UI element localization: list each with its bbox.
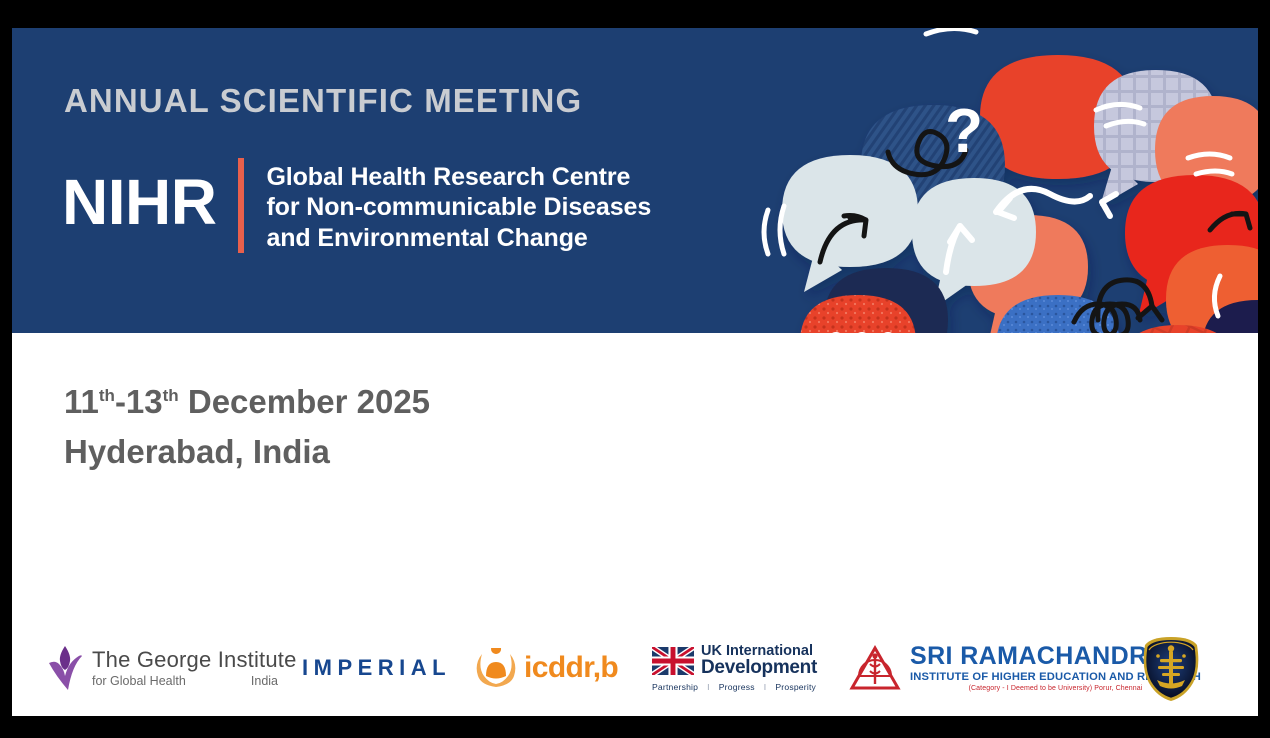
icddrb-person-wreath-icon [474,648,518,688]
ukid-tagline-prosperity: Prosperity [775,682,816,692]
event-date-day-start: 11 [64,383,99,420]
partner-logo-row: The George Institute for Global Health I… [12,623,1258,713]
event-date-ordinal-2: th [163,386,179,405]
ukid-tagline-progress: Progress [719,682,755,692]
ukid-line-1: UK International [701,644,817,659]
poster-card: ANNUAL SCIENTIFIC MEETING NIHR Global He… [12,28,1258,716]
partner-logo-universitas-brawijaya[interactable] [1140,623,1202,713]
event-date-day-end: -13 [115,383,163,420]
question-mark-glyph: ? [945,97,983,166]
partner-logo-icddrb[interactable]: icddr,b [474,623,618,713]
ukid-tagline-sep-2: I [764,682,767,692]
partner-logo-the-george-institute[interactable]: The George Institute for Global Health I… [46,623,297,713]
logo-divider-bar [238,158,244,253]
event-date: 11th-13th December 2025 [64,383,430,421]
header-banner: ANNUAL SCIENTIFIC MEETING NIHR Global He… [12,28,1258,333]
george-institute-subtitles: for Global Health India [92,674,278,688]
body-area: 11th-13th December 2025 Hyderabad, India… [12,333,1258,716]
event-location: Hyderabad, India [64,433,330,471]
centre-name-line-3: and Environmental Change [266,223,651,253]
george-institute-tagline: for Global Health [92,674,186,688]
centre-name-line-2: for Non-communicable Diseases [266,192,651,222]
george-institute-wordmark: The George Institute for Global Health I… [92,648,297,689]
ukid-tagline: Partnership I Progress I Prosperity [652,682,817,692]
event-date-ordinal-1: th [99,386,115,405]
speech-bubble-collage-illustration: ? ? [758,28,1258,333]
union-jack-flag-icon [652,647,694,675]
george-institute-leaf-check-icon [46,644,84,692]
icddrb-wordmark: icddr,b [524,651,618,685]
centre-name: Global Health Research Centre for Non-co… [266,158,651,253]
imperial-wordmark: IMPERIAL [302,655,451,681]
nihr-wordmark: NIHR [62,158,238,253]
partner-logo-imperial[interactable]: IMPERIAL [302,623,451,713]
ukid-tagline-partnership: Partnership [652,682,698,692]
poster-frame: ANNUAL SCIENTIFIC MEETING NIHR Global He… [0,0,1270,738]
ukid-line-2: Development [701,658,817,677]
ukid-tagline-sep-1: I [707,682,710,692]
page-title: ANNUAL SCIENTIFIC MEETING [64,82,582,120]
sri-ramachandra-emblem-icon [848,644,902,692]
partner-logo-uk-international-development[interactable]: UK International Development Partnership… [652,623,817,713]
event-date-month-year: December 2025 [179,383,430,420]
george-institute-region: India [251,674,278,688]
centre-name-line-1: Global Health Research Centre [266,162,651,192]
nihr-logo-lockup: NIHR Global Health Research Centre for N… [62,158,651,253]
universitas-brawijaya-crest-icon [1140,635,1202,701]
george-institute-name: The George Institute [92,648,297,673]
